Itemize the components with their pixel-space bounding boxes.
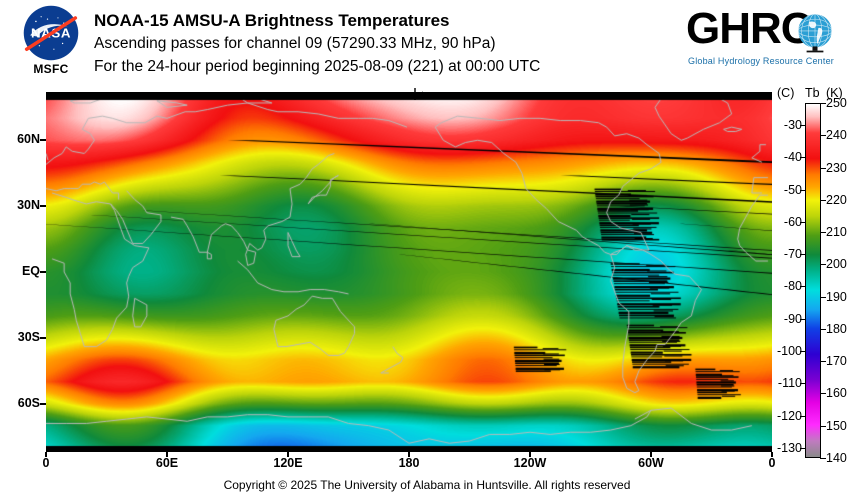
map-panel[interactable] [46, 92, 772, 452]
lat-tick [40, 337, 46, 339]
colorbar-celsius-label--100: -100 [777, 344, 802, 358]
colorbar-celsius-tick [800, 222, 806, 223]
lon-tick [650, 452, 652, 457]
lon-tick [45, 452, 47, 457]
page-header: NASA MSFC NOAA-15 AMSU-A Brightness Temp… [0, 0, 854, 90]
colorbar-kelvin-label-180: 180 [826, 322, 847, 336]
colorbar-celsius-tick [800, 351, 806, 352]
lon-label-120E-2: 120E [273, 456, 302, 470]
nasa-logo: NASA MSFC [14, 4, 86, 86]
colorbar-kelvin-label-230: 230 [826, 161, 847, 175]
colorbar-kelvin-tick [820, 393, 826, 394]
colorbar-kelvin-label-240: 240 [826, 128, 847, 142]
colorbar-header-celsius: (C) [777, 86, 794, 100]
lat-label-text: 30N [17, 198, 40, 212]
colorbar-celsius-tick [800, 286, 806, 287]
colorbar-kelvin-label-210: 210 [826, 225, 847, 239]
colorbar-gradient [805, 103, 821, 458]
nasa-meatball-icon: NASA [22, 4, 80, 62]
lat-label-text: EQ [22, 264, 40, 278]
colorbar-kelvin-tick [820, 168, 826, 169]
colorbar-kelvin-tick [820, 361, 826, 362]
colorbar-kelvin-label-220: 220 [826, 193, 847, 207]
colorbar-kelvin-tick [820, 297, 826, 298]
colorbar-kelvin-tick [820, 329, 826, 330]
lon-tick [166, 452, 168, 457]
colorbar-kelvin-label-160: 160 [826, 386, 847, 400]
colorbar-kelvin-tick [820, 200, 826, 201]
colorbar-celsius-tick [800, 254, 806, 255]
lon-label-60W-5: 60W [638, 456, 664, 470]
lon-label-120W-4: 120W [514, 456, 547, 470]
colorbar-header-tb: Tb [805, 86, 820, 100]
brightness-temperature-map[interactable] [46, 92, 772, 452]
page-subtitle-channel: Ascending passes for channel 09 (57290.3… [94, 32, 674, 55]
lon-label-0-6: 0 [769, 456, 776, 470]
colorbar-legend: (C) Tb (K) 25024023022021020019018017016… [776, 86, 854, 476]
colorbar-kelvin-tick [820, 264, 826, 265]
lon-label-180-3: 180 [399, 456, 420, 470]
colorbar-kelvin-label-250: 250 [826, 96, 847, 110]
ghrc-wordmark: GHRC [686, 6, 812, 52]
ghrc-tagline: Global Hydrology Resource Center [688, 56, 834, 66]
lat-label-text: 30S [18, 330, 40, 344]
lon-label-0-0: 0 [43, 456, 50, 470]
ghrc-logo: GHRC Global Hydrology Resource Center [686, 4, 838, 78]
colorbar-celsius-label--130: -130 [777, 441, 802, 455]
copyright-notice: Copyright © 2025 The University of Alaba… [0, 478, 854, 492]
colorbar-kelvin-label-200: 200 [826, 257, 847, 271]
colorbar-celsius-tick [800, 125, 806, 126]
colorbar-celsius-tick [800, 448, 806, 449]
colorbar-celsius-tick [800, 383, 806, 384]
colorbar-kelvin-label-150: 150 [826, 419, 847, 433]
lon-tick [529, 452, 531, 457]
colorbar-kelvin-tick [820, 103, 826, 104]
colorbar-kelvin-label-170: 170 [826, 354, 847, 368]
colorbar-celsius-tick [800, 319, 806, 320]
colorbar-kelvin-tick [820, 426, 826, 427]
lat-tick [40, 271, 46, 273]
lon-tick [771, 452, 773, 457]
lat-tick [40, 403, 46, 405]
colorbar-kelvin-label-190: 190 [826, 290, 847, 304]
colorbar-celsius-tick [800, 157, 806, 158]
nasa-logo-label: MSFC [14, 62, 88, 76]
left-arrow-marker-icon [409, 88, 455, 102]
colorbar-kelvin-tick [820, 458, 826, 459]
colorbar-celsius-tick [800, 416, 806, 417]
lon-tick [408, 452, 410, 457]
lat-tick [40, 139, 46, 141]
lon-tick [287, 452, 289, 457]
page-title: NOAA-15 AMSU-A Brightness Temperatures [94, 10, 674, 32]
lat-tick [40, 205, 46, 207]
colorbar-kelvin-tick [820, 135, 826, 136]
globe-icon [794, 12, 836, 54]
title-block: NOAA-15 AMSU-A Brightness Temperatures A… [94, 10, 674, 78]
lat-label-text: 60S [18, 396, 40, 410]
colorbar-celsius-label--120: -120 [777, 409, 802, 423]
colorbar-kelvin-label-140: 140 [826, 451, 847, 465]
colorbar-kelvin-tick [820, 232, 826, 233]
colorbar-celsius-label--110: -110 [778, 376, 802, 390]
lat-label-text: 60N [17, 132, 40, 146]
lon-label-60E-1: 60E [156, 456, 178, 470]
page-subtitle-period: For the 24-hour period beginning 2025-08… [94, 55, 674, 78]
colorbar-celsius-tick [800, 190, 806, 191]
